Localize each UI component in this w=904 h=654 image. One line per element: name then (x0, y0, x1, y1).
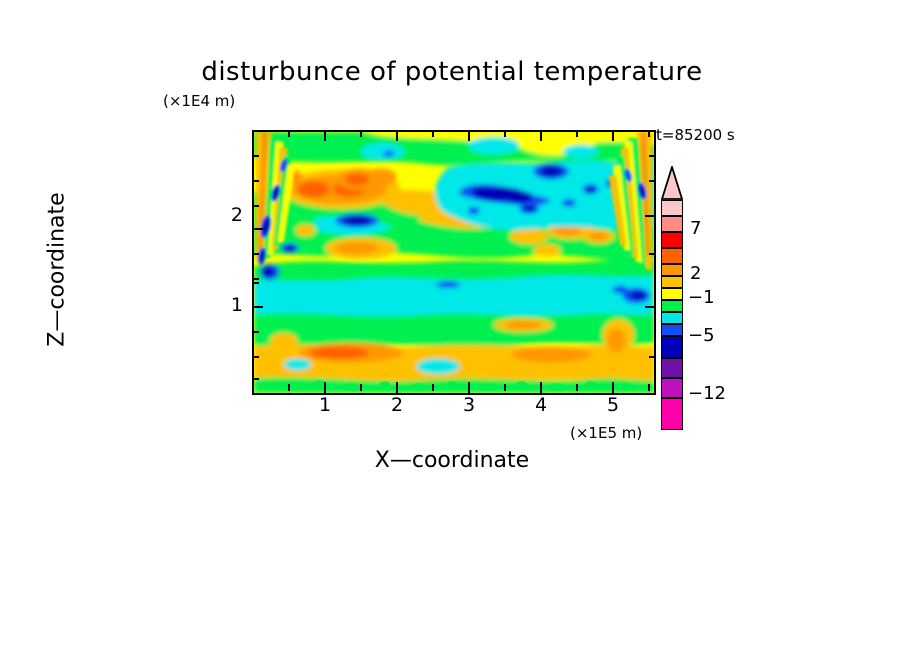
x-tick (288, 384, 290, 391)
y-tick-right (649, 155, 656, 157)
y-axis-unit-label: (×1E4 m) (163, 92, 235, 110)
colorbar-tick-label: −1 (688, 287, 715, 308)
x-tick-top (576, 130, 578, 137)
y-tick (252, 205, 259, 207)
x-tick (504, 384, 506, 391)
x-tick (576, 384, 578, 391)
colorbar-band (661, 264, 683, 276)
colorbar (661, 166, 685, 398)
y-tick (252, 180, 259, 182)
x-tick (360, 384, 362, 391)
contour-field (254, 132, 654, 393)
x-tick-label: 4 (521, 394, 561, 416)
colorbar-band (661, 398, 683, 430)
x-tick-label: 1 (305, 394, 345, 416)
x-axis-title: X—coordinate (0, 448, 904, 473)
x-tick-top (648, 130, 650, 137)
y-tick-right (649, 180, 656, 182)
y-tick (252, 278, 259, 280)
y-tick (252, 253, 259, 255)
figure-canvas: disturbunce of potential temperature (×1… (0, 0, 904, 654)
colorbar-band (661, 216, 683, 232)
y-tick (252, 282, 259, 284)
x-tick-top-major (612, 130, 614, 141)
x-tick-top-major (540, 130, 542, 141)
y-tick-right (649, 253, 656, 255)
x-axis-unit-label: (×1E5 m) (570, 424, 642, 442)
page-title: disturbunce of potential temperature (0, 57, 904, 87)
x-tick-top (360, 130, 362, 137)
colorbar-band (661, 276, 683, 288)
colorbar-tick-label: 7 (690, 218, 701, 239)
contour-plot-area (252, 130, 656, 395)
x-tick-major (396, 382, 398, 393)
colorbar-band (661, 312, 683, 324)
colorbar-arrow-tip (661, 166, 683, 200)
colorbar-band (661, 248, 683, 264)
y-tick-major (252, 228, 263, 230)
x-tick-label: 2 (377, 394, 417, 416)
colorbar-band (661, 324, 683, 336)
y-axis-title: Z—coordinate (45, 150, 70, 390)
y-tick-label: 1 (203, 294, 243, 316)
x-tick-label: 3 (449, 394, 489, 416)
x-tick-top (288, 130, 290, 137)
x-tick-top-major (396, 130, 398, 141)
x-tick-major (612, 382, 614, 393)
y-tick (252, 155, 259, 157)
x-tick-major (540, 382, 542, 393)
colorbar-band (661, 336, 683, 358)
y-tick-right (649, 356, 656, 358)
colorbar-band (661, 358, 683, 378)
x-tick-top (432, 130, 434, 137)
colorbar-tick-label: 2 (690, 263, 701, 284)
y-tick-right-major (645, 306, 656, 308)
x-tick (648, 384, 650, 391)
colorbar-band (661, 200, 683, 216)
y-tick (252, 378, 259, 380)
colorbar-band (661, 232, 683, 248)
colorbar-band (661, 378, 683, 398)
colorbar-band (661, 300, 683, 312)
y-tick-right-major (645, 215, 656, 217)
x-tick (432, 384, 434, 391)
x-tick-major (468, 382, 470, 393)
colorbar-tick-label: −5 (688, 325, 715, 346)
time-annotation: t=85200 s (656, 126, 735, 144)
colorbar-tick-label: −12 (688, 383, 726, 404)
y-tick (252, 331, 259, 333)
y-tick-label: 2 (203, 204, 243, 226)
x-tick-label: 5 (593, 394, 633, 416)
y-tick-major (252, 306, 263, 308)
x-tick-top-major (324, 130, 326, 141)
x-tick-top (504, 130, 506, 137)
x-tick-major (324, 382, 326, 393)
colorbar-band (661, 288, 683, 300)
x-tick-top-major (468, 130, 470, 141)
y-tick (252, 356, 259, 358)
